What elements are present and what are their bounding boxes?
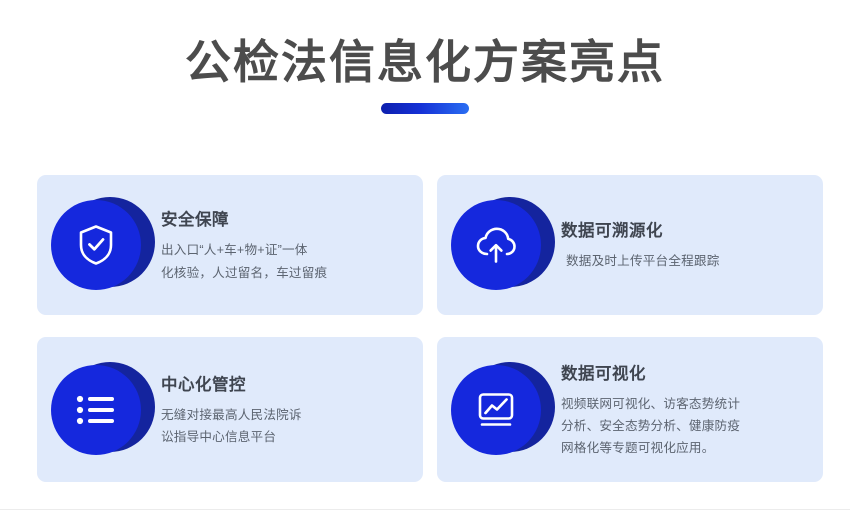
card-description: 视频联网可视化、访客态势统计 分析、安全态势分析、健康防疫 网格化等专题可视化应… [561, 393, 809, 459]
card-text: 安全保障 出入口“人+车+物+证”一体 化核验，人过留名，车过留痕 [161, 206, 423, 283]
card-text: 数据可溯源化 数据及时上传平台全程跟踪 [561, 217, 823, 272]
icon-circle [451, 365, 541, 455]
shield-check-icon [76, 223, 116, 267]
card-description: 出入口“人+车+物+证”一体 化核验，人过留名，车过留痕 [161, 239, 409, 283]
feature-card-centralized-control[interactable]: 中心化管控 无缝对接最高人民法院诉 讼指导中心信息平台 [37, 337, 423, 482]
card-title: 数据可视化 [561, 360, 809, 384]
icon-container [451, 358, 555, 462]
feature-card-data-visualization[interactable]: 数据可视化 视频联网可视化、访客态势统计 分析、安全态势分析、健康防疫 网格化等… [437, 337, 823, 482]
icon-circle [51, 200, 141, 290]
card-title: 中心化管控 [161, 371, 409, 395]
cloud-upload-icon [474, 224, 518, 266]
card-title: 数据可溯源化 [561, 217, 809, 241]
card-text: 数据可视化 视频联网可视化、访客态势统计 分析、安全态势分析、健康防疫 网格化等… [561, 360, 823, 459]
bullet-list-icon [75, 393, 117, 427]
card-description: 无缝对接最高人民法院诉 讼指导中心信息平台 [161, 404, 409, 448]
feature-card-grid: 安全保障 出入口“人+车+物+证”一体 化核验，人过留名，车过留痕 数据可溯源化… [37, 175, 823, 482]
icon-container [451, 193, 555, 297]
card-description: 数据及时上传平台全程跟踪 [561, 250, 809, 272]
feature-card-data-traceability[interactable]: 数据可溯源化 数据及时上传平台全程跟踪 [437, 175, 823, 315]
footer-divider [0, 509, 850, 510]
icon-container [51, 193, 155, 297]
icon-circle [451, 200, 541, 290]
card-title: 安全保障 [161, 206, 409, 230]
icon-circle [51, 365, 141, 455]
chart-monitor-icon [474, 390, 518, 430]
page-header: 公检法信息化方案亮点 [0, 0, 850, 114]
page-title: 公检法信息化方案亮点 [0, 36, 850, 89]
feature-card-security[interactable]: 安全保障 出入口“人+车+物+证”一体 化核验，人过留名，车过留痕 [37, 175, 423, 315]
title-underline-bar [381, 103, 469, 114]
card-text: 中心化管控 无缝对接最高人民法院诉 讼指导中心信息平台 [161, 371, 423, 448]
icon-container [51, 358, 155, 462]
